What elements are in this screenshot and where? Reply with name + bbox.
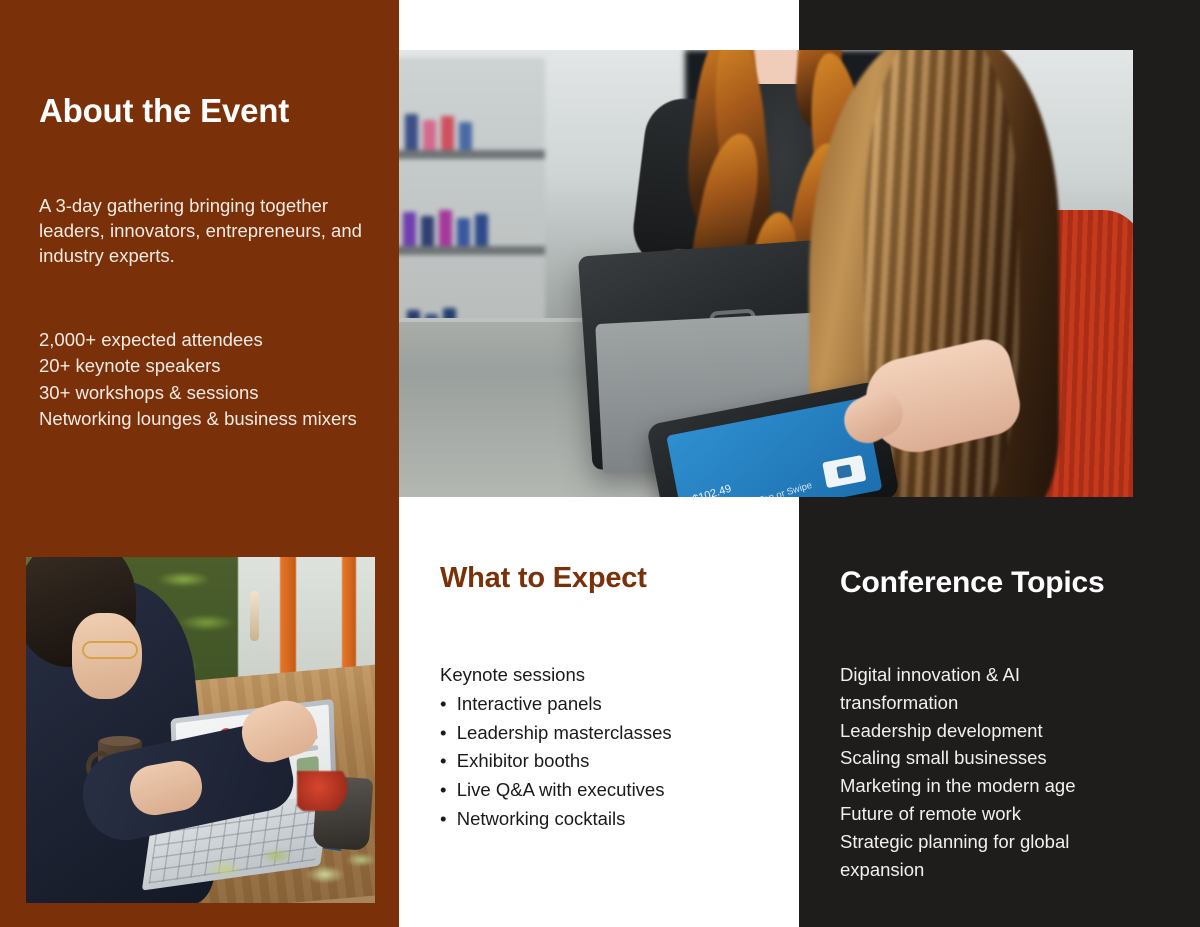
photo-card-reader-amount: $102.49	[691, 483, 733, 497]
photo-bl-foreground-plant	[185, 823, 375, 903]
list-item: Future of remote work	[840, 800, 1140, 828]
list-item: Digital innovation & AI transformation	[840, 661, 1140, 717]
photo-bl-red-decor	[297, 771, 351, 811]
laptop-at-table-photo	[26, 557, 375, 903]
list-item: Leadership development	[840, 717, 1140, 745]
list-item: Networking cocktails	[440, 805, 790, 834]
list-item: 2,000+ expected attendees	[39, 327, 369, 353]
list-item: Keynote sessions	[440, 661, 790, 690]
what-to-expect-title: What to Expect	[440, 562, 790, 595]
photo-bl-eyeglasses	[82, 641, 138, 659]
about-the-event-intro: A 3-day gathering bringing together lead…	[39, 193, 369, 268]
list-item: Exhibitor booths	[440, 747, 790, 776]
about-the-event-title: About the Event	[39, 92, 379, 130]
conference-topics-title: Conference Topics	[840, 566, 1180, 600]
list-item: Marketing in the modern age	[840, 772, 1140, 800]
conference-topics-list: Digital innovation & AI transformation L…	[840, 661, 1140, 883]
event-stats-list: 2,000+ expected attendees 20+ keynote sp…	[39, 327, 369, 432]
list-item: Live Q&A with executives	[440, 776, 790, 805]
list-item: Strategic planning for global expansion	[840, 828, 1140, 884]
list-item: Scaling small businesses	[840, 744, 1140, 772]
photo-card-reader-chip-icon	[822, 455, 866, 488]
shop-counter-photo: $102.49 Insert, Tap or Swipe	[399, 50, 1133, 497]
photo-bl-door-handle	[250, 591, 259, 641]
what-to-expect-list: Keynote sessions Interactive panels Lead…	[440, 661, 790, 834]
list-item: Networking lounges & business mixers	[39, 406, 369, 432]
list-item: Leadership masterclasses	[440, 719, 790, 748]
photo-card-reader-hint: Insert, Tap or Swipe	[730, 480, 813, 497]
list-item: Interactive panels	[440, 690, 790, 719]
list-item: 20+ keynote speakers	[39, 353, 369, 379]
list-item: 30+ workshops & sessions	[39, 380, 369, 406]
poster-page: $102.49 Insert, Tap or Swipe About the E…	[0, 0, 1200, 927]
